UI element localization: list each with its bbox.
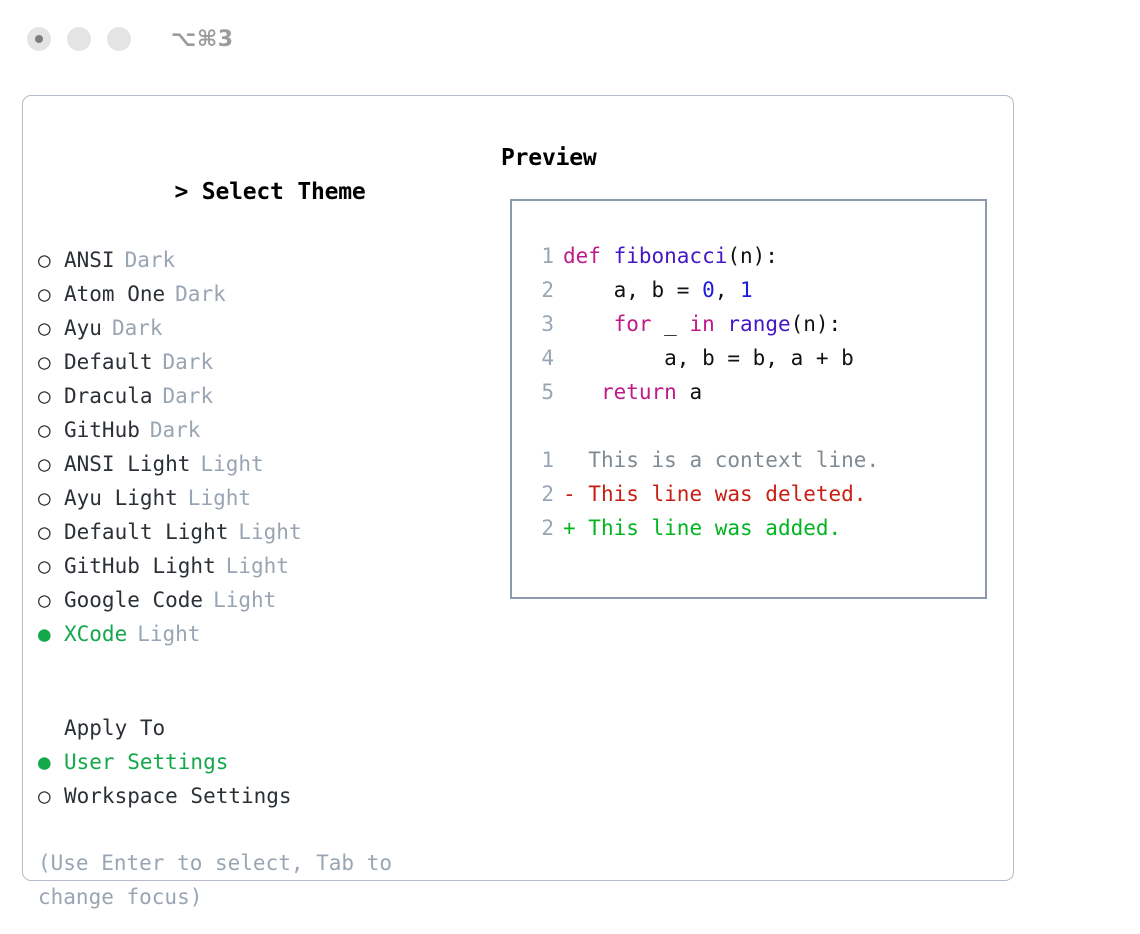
radio-selected-icon: ●	[38, 617, 64, 651]
radio-unselected-icon: ○	[38, 779, 64, 813]
theme-option-variant: Light	[200, 447, 263, 481]
radio-unselected-icon: ○	[38, 413, 64, 447]
code-line-number: 3	[524, 307, 554, 341]
radio-unselected-icon: ○	[38, 481, 64, 515]
radio-unselected-icon: ○	[38, 277, 64, 311]
theme-option-variant: Dark	[150, 413, 201, 447]
code-token-plain	[715, 312, 728, 336]
theme-option-name: GitHub	[64, 413, 140, 447]
radio-selected-icon: ●	[38, 745, 64, 779]
code-token-plain	[563, 312, 614, 336]
diff-line-number: 2	[524, 477, 554, 511]
diff-marker	[563, 448, 576, 472]
window-dot-active[interactable]	[27, 27, 51, 51]
theme-option-xcode[interactable]: ●XCodeLight	[38, 617, 488, 651]
apply-to-option-label: Workspace Settings	[64, 779, 292, 813]
code-token-plain: _	[652, 312, 690, 336]
diff-line-text: - This line was deleted.	[563, 477, 866, 511]
diff-line-number: 2	[524, 511, 554, 545]
radio-unselected-icon: ○	[38, 583, 64, 617]
hint-line-2: change focus)	[38, 880, 453, 914]
code-line-number: 1	[524, 239, 554, 273]
diff-line-text: This is a context line.	[563, 443, 879, 477]
prompt-caret-icon: >	[174, 179, 188, 205]
theme-option-default-light[interactable]: ○Default LightLight	[38, 515, 488, 549]
code-token-plain	[563, 380, 601, 404]
window-dot-second[interactable]	[67, 27, 91, 51]
code-line: 3 for _ in range(n):	[524, 307, 985, 341]
select-theme-header: > Select Theme	[38, 141, 488, 243]
code-line-text: return a	[563, 375, 702, 409]
diff-line-context: 1 This is a context line.	[524, 443, 985, 477]
app-window: ⌥⌘3 > Select Theme ○ANSIDark○Atom OneDar…	[0, 0, 1140, 934]
theme-option-github-light[interactable]: ○GitHub LightLight	[38, 549, 488, 583]
code-token-plain: a, b = b, a + b	[563, 346, 854, 370]
theme-option-variant: Light	[213, 583, 276, 617]
window-titlebar: ⌥⌘3	[0, 0, 1140, 78]
code-token-kw: return	[601, 380, 677, 404]
code-line: 1def fibonacci(n):	[524, 239, 985, 273]
radio-unselected-icon: ○	[38, 243, 64, 277]
diff-line-deleted: 2- This line was deleted.	[524, 477, 985, 511]
code-token-kw: def	[563, 244, 614, 268]
apply-to-option-label: User Settings	[64, 745, 228, 779]
diff-marker: -	[563, 482, 576, 506]
theme-option-name: Ayu	[64, 311, 102, 345]
diff-line-text: + This line was added.	[563, 511, 841, 545]
code-token-kw: for	[614, 312, 652, 336]
keyboard-shortcut-label: ⌥⌘3	[171, 27, 234, 52]
diff-text: This line was deleted.	[576, 482, 867, 506]
radio-unselected-icon: ○	[38, 549, 64, 583]
code-token-plain: (n):	[791, 312, 842, 336]
radio-unselected-icon: ○	[38, 515, 64, 549]
apply-to-section: Apply To ●User Settings○Workspace Settin…	[38, 711, 488, 813]
panel-body: > Select Theme ○ANSIDark○Atom OneDark○Ay…	[23, 96, 1013, 880]
code-line-number: 2	[524, 273, 554, 307]
code-preview-area: 1def fibonacci(n):2 a, b = 0, 13 for _ i…	[512, 201, 985, 545]
theme-option-variant: Dark	[125, 243, 176, 277]
apply-to-option-workspace-settings[interactable]: ○Workspace Settings	[38, 779, 488, 813]
theme-option-github[interactable]: ○GitHubDark	[38, 413, 488, 447]
code-token-plain: a	[677, 380, 702, 404]
theme-list-column: > Select Theme ○ANSIDark○Atom OneDark○Ay…	[38, 141, 488, 651]
theme-option-name: Default Light	[64, 515, 228, 549]
theme-option-variant: Dark	[163, 379, 214, 413]
code-token-fn: range	[727, 312, 790, 336]
diff-text: This is a context line.	[576, 448, 879, 472]
apply-to-options-list: ●User Settings○Workspace Settings	[38, 745, 488, 813]
theme-options-list: ○ANSIDark○Atom OneDark○AyuDark○DefaultDa…	[38, 243, 488, 651]
code-token-num: 0	[702, 278, 715, 302]
theme-option-ayu[interactable]: ○AyuDark	[38, 311, 488, 345]
hint-line-1: (Use Enter to select, Tab to	[38, 846, 453, 880]
code-line: 2 a, b = 0, 1	[524, 273, 985, 307]
code-token-kw: in	[689, 312, 714, 336]
code-line-text: a, b = b, a + b	[563, 341, 854, 375]
diff-line-added: 2+ This line was added.	[524, 511, 985, 545]
theme-option-ansi[interactable]: ○ANSIDark	[38, 243, 488, 277]
code-line-number: 4	[524, 341, 554, 375]
code-line-number: 5	[524, 375, 554, 409]
diff-marker: +	[563, 516, 576, 540]
radio-unselected-icon: ○	[38, 311, 64, 345]
code-line: 5 return a	[524, 375, 985, 409]
code-token-num: 1	[740, 278, 753, 302]
window-dot-third[interactable]	[107, 27, 131, 51]
code-token-plain: (n):	[727, 244, 778, 268]
code-line-text: for _ in range(n):	[563, 307, 841, 341]
theme-option-variant: Dark	[163, 345, 214, 379]
theme-option-name: ANSI	[64, 243, 115, 277]
theme-option-ansi-light[interactable]: ○ANSI LightLight	[38, 447, 488, 481]
theme-option-name: Ayu Light	[64, 481, 178, 515]
theme-option-google-code[interactable]: ○Google CodeLight	[38, 583, 488, 617]
code-line-text: a, b = 0, 1	[563, 273, 753, 307]
preview-title: Preview	[501, 141, 1001, 175]
theme-option-name: Default	[64, 345, 153, 379]
diff-text: This line was added.	[576, 516, 842, 540]
theme-option-variant: Dark	[112, 311, 163, 345]
code-token-plain: a, b =	[563, 278, 702, 302]
keyboard-hint: (Use Enter to select, Tab to change focu…	[38, 846, 453, 914]
preview-box: 1def fibonacci(n):2 a, b = 0, 13 for _ i…	[510, 199, 987, 599]
theme-option-atom-one[interactable]: ○Atom OneDark	[38, 277, 488, 311]
radio-unselected-icon: ○	[38, 379, 64, 413]
code-token-fn: fibonacci	[614, 244, 728, 268]
theme-option-variant: Light	[137, 617, 200, 651]
preview-column: Preview 1def fibonacci(n):2 a, b = 0, 13…	[501, 141, 1001, 175]
theme-option-name: XCode	[64, 617, 127, 651]
select-theme-title: Select Theme	[202, 179, 366, 205]
code-blank-line	[524, 409, 985, 443]
theme-option-name: GitHub Light	[64, 549, 216, 583]
code-line-text: def fibonacci(n):	[563, 239, 778, 273]
theme-option-name: ANSI Light	[64, 447, 190, 481]
code-token-plain: ,	[715, 278, 740, 302]
theme-option-ayu-light[interactable]: ○Ayu LightLight	[38, 481, 488, 515]
diff-line-number: 1	[524, 443, 554, 477]
theme-option-variant: Dark	[175, 277, 226, 311]
theme-option-name: Google Code	[64, 583, 203, 617]
apply-to-title: Apply To	[38, 711, 488, 745]
theme-picker-panel: > Select Theme ○ANSIDark○Atom OneDark○Ay…	[22, 95, 1014, 881]
theme-option-variant: Light	[238, 515, 301, 549]
theme-option-name: Dracula	[64, 379, 153, 413]
theme-option-dracula[interactable]: ○DraculaDark	[38, 379, 488, 413]
code-line: 4 a, b = b, a + b	[524, 341, 985, 375]
theme-option-variant: Light	[188, 481, 251, 515]
radio-unselected-icon: ○	[38, 345, 64, 379]
theme-option-variant: Light	[226, 549, 289, 583]
theme-option-name: Atom One	[64, 277, 165, 311]
theme-option-default[interactable]: ○DefaultDark	[38, 345, 488, 379]
apply-to-option-user-settings[interactable]: ●User Settings	[38, 745, 488, 779]
radio-unselected-icon: ○	[38, 447, 64, 481]
